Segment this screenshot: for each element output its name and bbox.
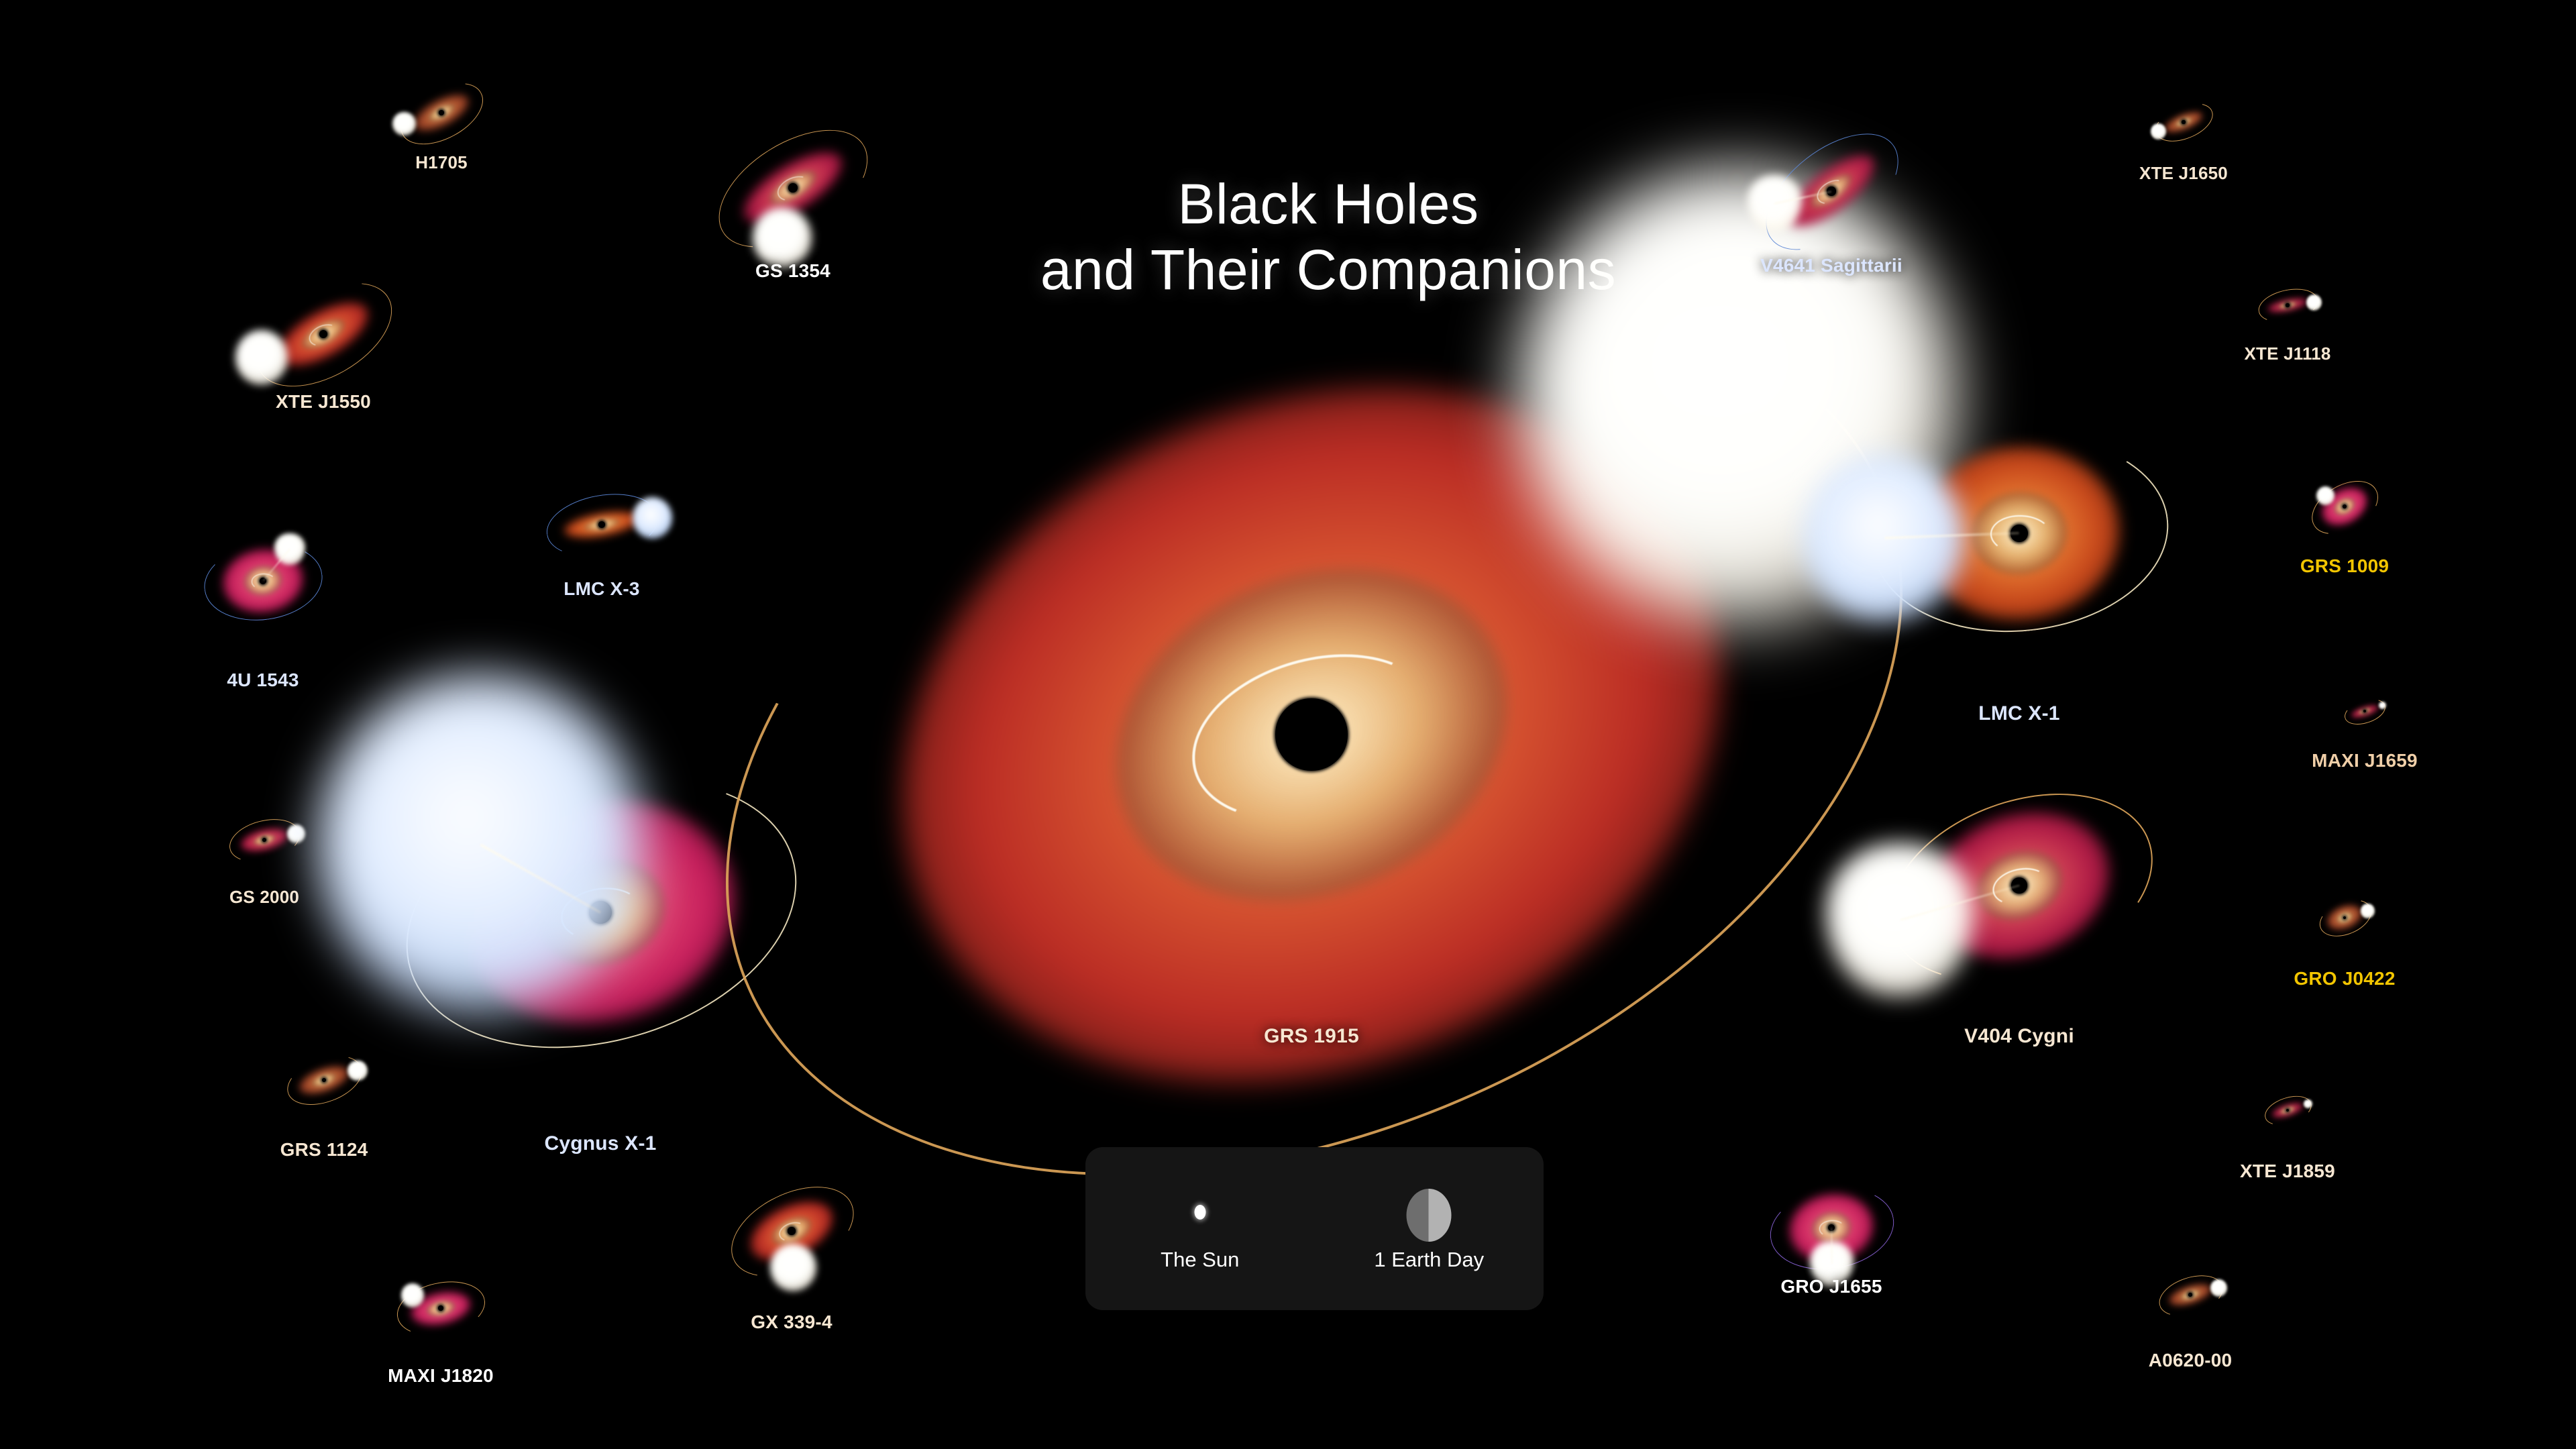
accretion-stream	[1831, 1228, 1833, 1264]
system-label-v4641-sagittarii: V4641 Sagittarii	[1760, 255, 1902, 276]
system-label-gx-339-4: GX 339-4	[751, 1311, 832, 1333]
system-label-cygnus-x-1: Cygnus X-1	[544, 1132, 656, 1155]
companion-star	[753, 207, 811, 268]
companion-star	[287, 824, 305, 843]
companion-star	[347, 1061, 368, 1081]
day-ball-icon	[1407, 1189, 1452, 1242]
system-v4641-sagittarii[interactable]	[1779, 139, 1884, 244]
system-xte-j1650[interactable]	[2163, 102, 2204, 142]
legend-item-one-earth-day: 1 Earth Day	[1315, 1147, 1544, 1310]
title-line-2: and Their Companions	[1033, 237, 1623, 303]
system-label-gs-2000: GS 2000	[229, 887, 299, 908]
scale-legend: The Sun 1 Earth Day	[1085, 1147, 1544, 1310]
companion-star	[2306, 294, 2322, 311]
black-hole-shadow	[438, 1305, 443, 1311]
system-4u-1543[interactable]	[223, 541, 303, 621]
black-hole-shadow	[2182, 120, 2185, 123]
sky-canvas: Black Holes and Their Companions H1705GS…	[0, 0, 2576, 1449]
companion-star	[2304, 1099, 2312, 1108]
system-grs-1009[interactable]	[2320, 482, 2369, 531]
system-gs-1354[interactable]	[737, 131, 849, 244]
system-label-maxi-j1659: MAXI J1659	[2312, 750, 2418, 771]
companion-star	[392, 112, 415, 136]
legend-caption-one-earth-day: 1 Earth Day	[1374, 1248, 1484, 1272]
system-label-xte-j1859: XTE J1859	[2240, 1161, 2335, 1182]
system-label-xte-j1650: XTE J1650	[2139, 163, 2228, 184]
system-gs-2000[interactable]	[240, 816, 288, 864]
system-label-gro-j0422: GRO J0422	[2294, 968, 2395, 989]
system-h1705[interactable]	[411, 83, 472, 143]
system-a0620-00[interactable]	[2168, 1273, 2212, 1317]
system-label-h1705: H1705	[415, 152, 468, 173]
system-gx-339-4[interactable]	[747, 1187, 836, 1275]
companion-star	[633, 497, 672, 539]
system-label-gro-j1655: GRO J1655	[1780, 1276, 1882, 1297]
system-label-maxi-j1820: MAXI J1820	[388, 1365, 494, 1387]
system-v404-cygni[interactable]	[1927, 793, 2112, 978]
system-cygnus-x-1[interactable]	[465, 777, 737, 1049]
system-xte-j1859[interactable]	[2271, 1094, 2304, 1126]
system-grs-1124[interactable]	[298, 1054, 350, 1106]
system-label-lmc-x-1: LMC X-1	[1978, 702, 2059, 725]
companion-star	[2361, 904, 2375, 918]
black-hole-shadow	[598, 521, 605, 528]
black-hole-shadow	[439, 110, 444, 115]
page-title: Black Holes and Their Companions	[1033, 171, 1623, 303]
companion-star	[2210, 1279, 2227, 1297]
system-xte-j1118[interactable]	[2267, 285, 2308, 325]
black-hole-shadow	[2286, 303, 2289, 307]
system-label-v404-cygni: V404 Cygni	[1964, 1025, 2074, 1048]
legend-item-the-sun: The Sun	[1085, 1147, 1315, 1310]
system-label-a0620-00: A0620-00	[2149, 1350, 2233, 1371]
black-hole-shadow	[2188, 1293, 2192, 1297]
system-lmc-x-3[interactable]	[563, 486, 640, 563]
companion-star	[235, 330, 288, 384]
system-label-gs-1354: GS 1354	[755, 260, 830, 282]
title-line-1: Black Holes	[1033, 171, 1623, 237]
system-label-lmc-x-3: LMC X-3	[563, 578, 639, 600]
system-label-grs-1124: GRS 1124	[280, 1139, 368, 1161]
system-label-grs-1009: GRS 1009	[2300, 555, 2389, 577]
system-maxi-j1820[interactable]	[411, 1278, 471, 1338]
legend-caption-the-sun: The Sun	[1161, 1248, 1239, 1272]
system-lmc-x-1[interactable]	[1919, 433, 2120, 634]
system-label-xte-j1550: XTE J1550	[276, 391, 371, 413]
companion-star	[401, 1283, 424, 1307]
photon-ring	[252, 574, 276, 590]
companion-star	[2151, 123, 2166, 140]
system-label-grs-1915: GRS 1915	[1264, 1025, 1359, 1048]
system-xte-j1550[interactable]	[273, 284, 374, 384]
companion-star	[770, 1244, 816, 1291]
system-label-4u-1543: 4U 1543	[227, 669, 299, 691]
system-gro-j0422[interactable]	[2326, 900, 2363, 936]
system-label-xte-j1118: XTE J1118	[2244, 343, 2330, 364]
system-maxi-j1659[interactable]	[2351, 697, 2379, 725]
system-gro-j1655[interactable]	[1789, 1185, 1874, 1270]
sun-dot-icon	[1194, 1205, 1205, 1220]
